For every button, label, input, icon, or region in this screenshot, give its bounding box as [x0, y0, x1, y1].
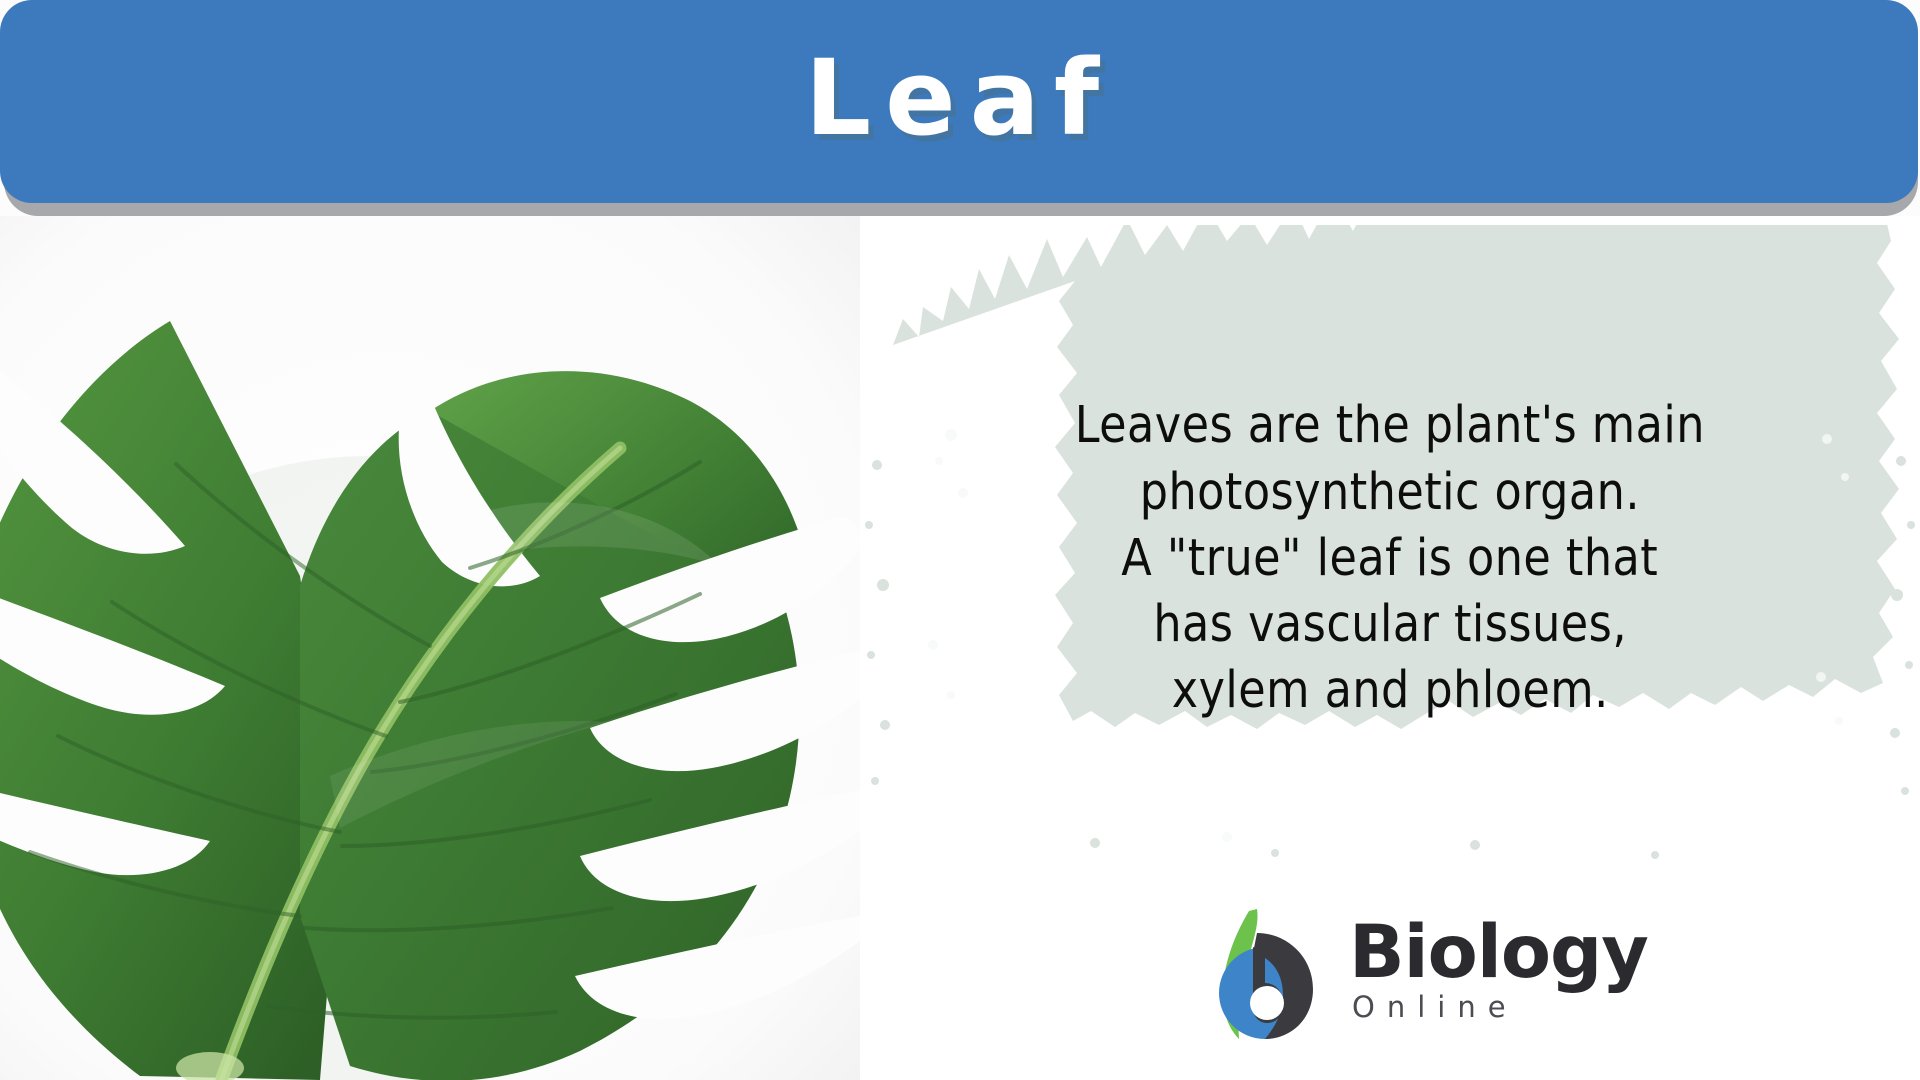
page-title: Leaf [805, 46, 1113, 158]
header-banner: Leaf [0, 0, 1920, 216]
definition-line-3: A "true" leaf is one that [1122, 526, 1659, 592]
definition-line-2: photosynthetic organ. [1140, 460, 1640, 526]
biology-online-logo[interactable]: Biology Online [1213, 905, 1633, 1045]
definition-text-block: Leaves are the plant's main photosynthet… [855, 225, 1920, 865]
logo-wordmark: Biology Online [1349, 918, 1648, 1024]
logo-secondary-text: Online [1352, 990, 1648, 1024]
definition-line-1: Leaves are the plant's main [1075, 393, 1705, 459]
banner-surface: Leaf [0, 0, 1918, 203]
definition-line-4: has vascular tissues, [1153, 592, 1627, 658]
monstera-leaf-photo [0, 216, 860, 1080]
infographic-card: Leaf [0, 0, 1920, 1080]
leaf-illustration [0, 216, 860, 1080]
definition-panel: Leaves are the plant's main photosynthet… [855, 225, 1920, 865]
logo-primary-text: Biology [1349, 918, 1648, 988]
definition-line-5: xylem and phloem. [1172, 658, 1609, 724]
logo-mark-icon [1213, 907, 1335, 1043]
